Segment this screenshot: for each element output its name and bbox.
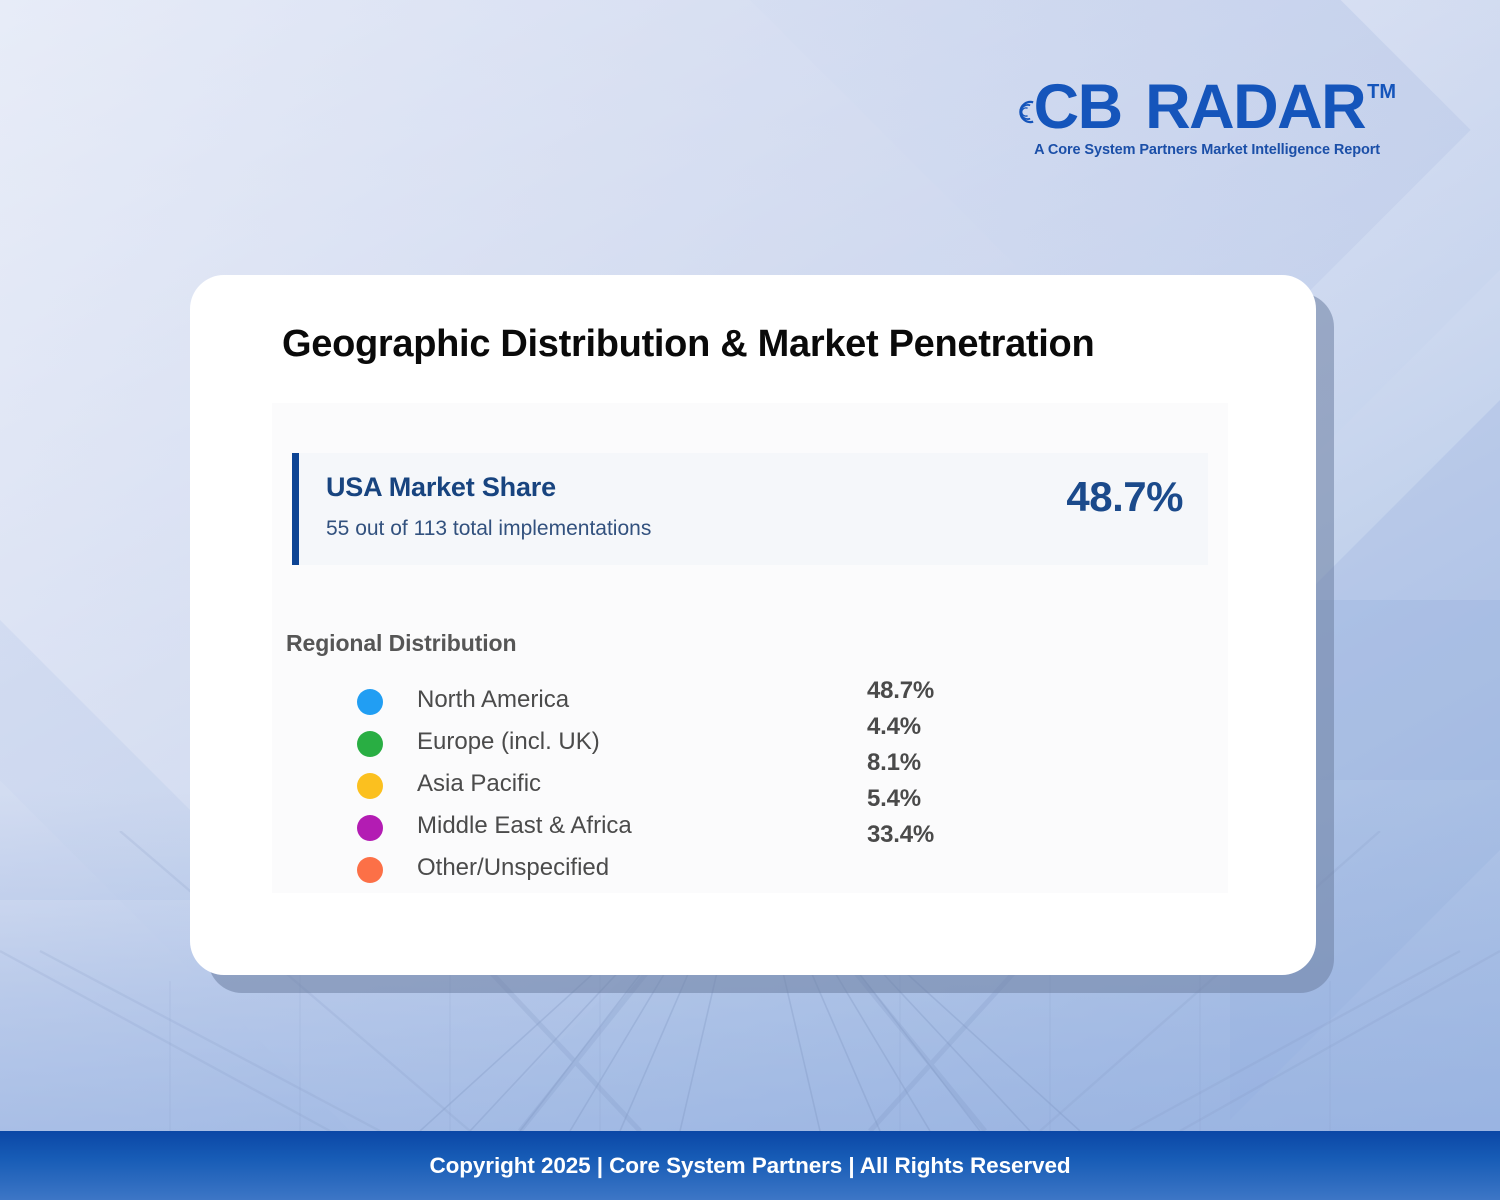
- logo-text-radar: RADAR: [1145, 72, 1365, 142]
- logo-wordmark: CB RADAR: [1034, 78, 1366, 138]
- list-item-label: Europe (incl. UK): [417, 728, 600, 756]
- report-card: Geographic Distribution & Market Penetra…: [190, 275, 1316, 975]
- legend-dot-icon: [357, 731, 383, 757]
- list-item-value: 48.7%: [867, 677, 934, 713]
- list-item: Middle East & Africa: [357, 807, 1217, 849]
- list-item: Other/Unspecified: [357, 849, 1217, 891]
- copyright-text: Copyright 2025 | Core System Partners | …: [429, 1153, 1070, 1179]
- usa-market-share-value: 48.7%: [1066, 473, 1183, 521]
- regional-distribution-heading: Regional Distribution: [286, 630, 516, 657]
- list-item-value: 5.4%: [867, 785, 934, 821]
- page-title: Geographic Distribution & Market Penetra…: [282, 323, 1094, 366]
- list-item-label: Other/Unspecified: [417, 854, 609, 882]
- list-item-value: 4.4%: [867, 713, 934, 749]
- list-item: Europe (incl. UK): [357, 723, 1217, 765]
- list-item-value: 33.4%: [867, 821, 934, 857]
- usa-market-share-label: USA Market Share: [326, 472, 556, 503]
- list-item: North America: [357, 681, 1217, 723]
- usa-market-share-highlight: USA Market Share 55 out of 113 total imp…: [292, 453, 1208, 565]
- list-item: Asia Pacific: [357, 765, 1217, 807]
- list-item-label: Middle East & Africa: [417, 812, 632, 840]
- regional-value-list: 48.7% 4.4% 8.1% 5.4% 33.4%: [867, 677, 934, 857]
- brand-logo: CB RADAR TM A Core System Partners Marke…: [1016, 78, 1396, 158]
- legend-dot-icon: [357, 773, 383, 799]
- footer-bar: Copyright 2025 | Core System Partners | …: [0, 1131, 1500, 1200]
- logo-text-cb: CB: [1034, 72, 1122, 142]
- usa-market-share-subtext: 55 out of 113 total implementations: [326, 517, 651, 541]
- list-item-label: Asia Pacific: [417, 770, 541, 798]
- legend-dot-icon: [357, 689, 383, 715]
- content-panel: USA Market Share 55 out of 113 total imp…: [272, 403, 1228, 893]
- legend-dot-icon: [357, 815, 383, 841]
- list-item-value: 8.1%: [867, 749, 934, 785]
- logo-tagline: A Core System Partners Market Intelligen…: [1016, 142, 1380, 158]
- list-item-label: North America: [417, 686, 569, 714]
- trademark-symbol: TM: [1367, 82, 1396, 102]
- regional-legend-list: North America Europe (incl. UK) Asia Pac…: [357, 681, 1217, 891]
- legend-dot-icon: [357, 857, 383, 883]
